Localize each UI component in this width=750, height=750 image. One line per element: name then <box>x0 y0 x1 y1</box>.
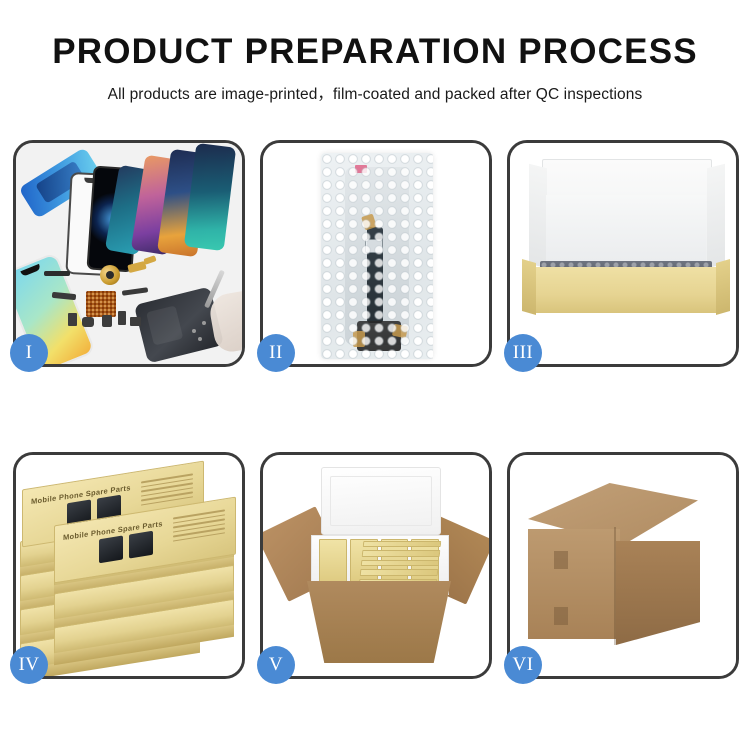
step-panel-6: VI <box>507 452 739 679</box>
small-component-4 <box>118 311 126 325</box>
product-preparation-infographic: PRODUCT PREPARATION PROCESS All products… <box>0 0 750 750</box>
small-component-5 <box>130 317 141 326</box>
box-inner-back-wall <box>546 195 706 267</box>
box-print-textlines-1 <box>141 473 193 508</box>
step-badge-1: I <box>10 334 48 372</box>
box-stack: Mobile Phone Spare Parts Mobile Phone Sp… <box>20 471 242 667</box>
screw-1 <box>192 329 196 333</box>
carton-tape-upper <box>554 551 568 569</box>
page-subtitle: All products are image-printed，film-coat… <box>0 82 750 104</box>
shipping-carton-side <box>616 541 700 645</box>
step-panel-2: II <box>260 140 492 367</box>
step-image-6 <box>510 455 736 676</box>
step-panel-5: V <box>260 452 492 679</box>
process-steps-grid: I II <box>13 140 740 679</box>
box-print-textlines-2 <box>173 509 225 544</box>
speaker-coil-part <box>100 265 120 285</box>
step-panel-1: I <box>13 140 245 367</box>
step-badge-5: V <box>257 646 295 684</box>
page-header: PRODUCT PREPARATION PROCESS All products… <box>0 0 750 104</box>
screw-2 <box>202 321 206 325</box>
step-panel-4: Mobile Phone Spare Parts Mobile Phone Sp… <box>13 452 245 679</box>
step-badge-3: III <box>504 334 542 372</box>
carton-body <box>307 581 451 663</box>
flex-cable-part-1 <box>122 287 148 296</box>
box-print-phone-2b <box>129 531 153 559</box>
step-image-2 <box>263 143 489 364</box>
kraft-box-tray <box>532 267 720 313</box>
step-image-4: Mobile Phone Spare Parts Mobile Phone Sp… <box>16 455 242 676</box>
step-badge-6: VI <box>504 646 542 684</box>
small-component-2 <box>82 317 94 327</box>
bubble-wrap-bag <box>321 153 433 359</box>
box-print-phone-2a <box>99 535 123 563</box>
gold-connector-part-2 <box>143 255 156 265</box>
step-image-5 <box>263 455 489 676</box>
small-component-3 <box>102 315 112 327</box>
step-badge-2: II <box>257 334 295 372</box>
gold-tab-2 <box>392 324 408 339</box>
lcd-driver-chip <box>365 239 383 253</box>
pink-quality-label <box>355 165 367 173</box>
shipping-carton-edge <box>614 527 616 645</box>
step-image-3 <box>510 143 736 364</box>
copper-grid-part <box>86 291 116 317</box>
step-badge-4: IV <box>10 646 48 684</box>
battery-strip-part <box>44 271 70 276</box>
packed-boxes-horizontal <box>359 541 442 585</box>
carton-tape-lower <box>554 607 568 625</box>
foam-box-lid <box>321 467 441 535</box>
small-component-1 <box>68 313 77 326</box>
shipping-carton-front <box>528 529 620 639</box>
step-panel-3: III <box>507 140 739 367</box>
screw-3 <box>198 337 202 341</box>
page-title: PRODUCT PREPARATION PROCESS <box>0 34 750 69</box>
gold-tab-1 <box>353 331 365 347</box>
step-image-1 <box>16 143 242 364</box>
